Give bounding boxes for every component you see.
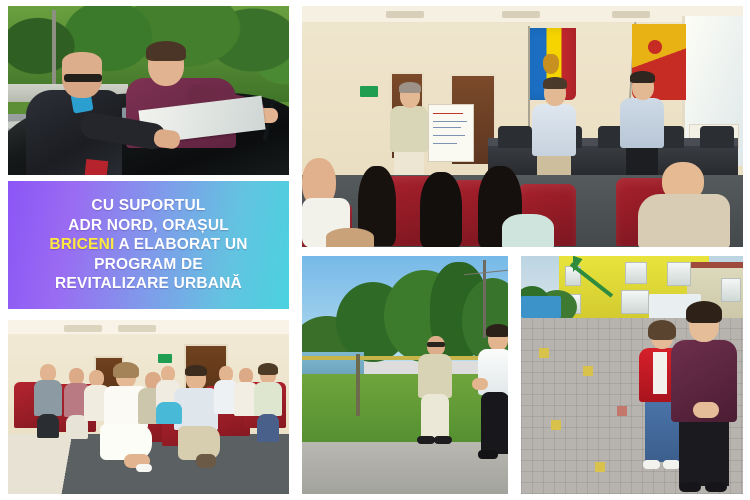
person-young-man-white-shirt [478,328,508,466]
ceiling-vent [502,11,540,18]
audience-member [502,214,554,247]
person-man-burgundy-shirt [671,306,737,494]
paving-tile [617,406,627,416]
window [625,262,647,284]
person-older-man-polo [418,336,452,448]
banner-line-4: PROGRAM DE [49,255,247,275]
audience-member [326,228,374,247]
window [621,290,649,314]
audience-member [420,172,462,247]
window [721,278,741,302]
photo-audience-seated [8,320,289,494]
person-older-man-glasses [26,52,122,175]
banner-text: CU SUPORTUL ADR NORD, ORAȘUL BRICENI A E… [43,196,253,294]
photo-conference-presentation [302,6,743,247]
audience-member [34,364,62,440]
paving-tile [583,366,593,376]
gradient-caption-banner: CU SUPORTUL ADR NORD, ORAȘUL BRICENI A E… [8,181,289,309]
audience-member [638,194,730,247]
banner-highlight-briceni: BRICENI [49,236,114,253]
photo-map-on-car [8,6,289,175]
ceiling-vent [386,11,424,18]
office-chair [700,126,734,148]
banner-line-1: CU SUPORTUL [49,196,247,216]
person-presenter-beige [390,84,428,182]
banner-line-3: BRICENI A ELABORAT UN [49,235,247,255]
photo-plaza-visit [521,256,743,494]
window [667,262,691,286]
audience-member [254,366,282,446]
exit-sign-icon [158,354,172,363]
paving-tile [595,462,605,472]
paving-tile [539,348,549,358]
exit-sign-icon [360,86,378,97]
office-chair [498,126,532,148]
banner-line-3-rest: A ELABORAT UN [115,236,248,253]
banner-line-5: REVITALIZARE URBANĂ [49,274,247,294]
flip-chart [428,104,474,162]
ceiling-vent [612,11,650,18]
pipeline-support-post [356,354,360,416]
blue-truck [521,296,561,318]
handbag [156,402,182,428]
photo-lakeside-discussion [302,256,508,494]
paving-tile [551,420,561,430]
photo-collage: CU SUPORTUL ADR NORD, ORAȘUL BRICENI A E… [0,0,750,500]
banner-line-2: ADR NORD, ORAȘUL [49,216,247,236]
ceiling-vent [118,325,156,332]
ceiling-vent [64,325,102,332]
